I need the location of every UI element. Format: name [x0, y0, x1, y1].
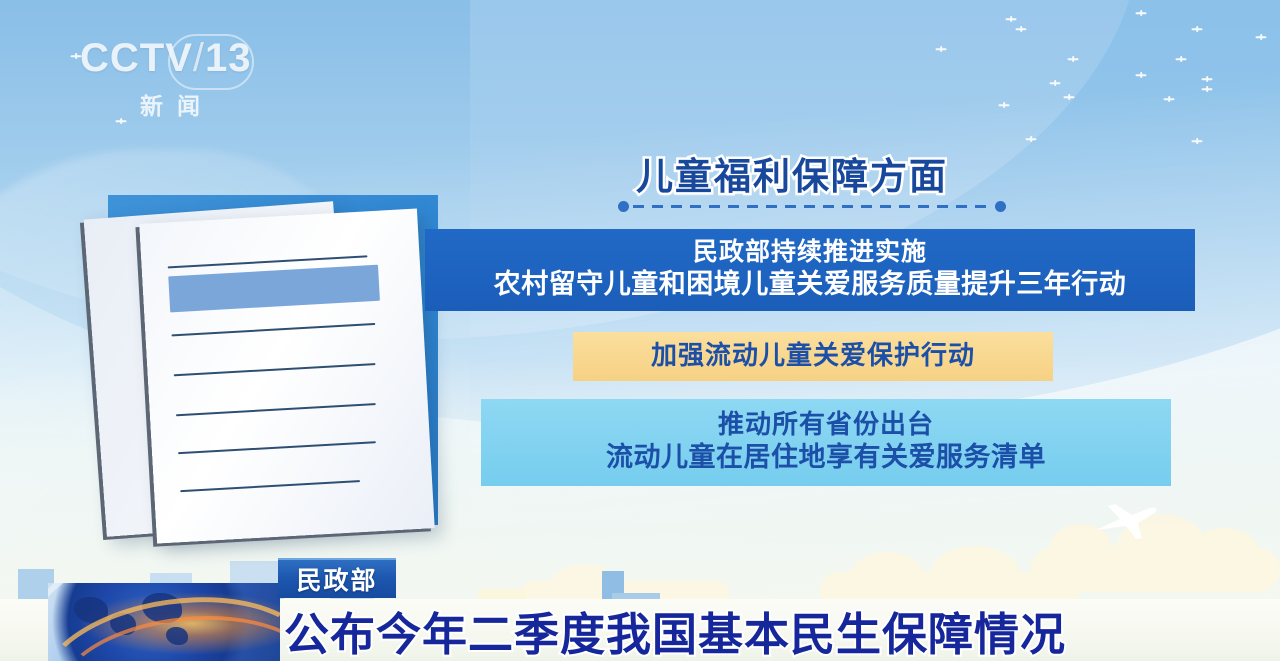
cctv13-logo: CCTV/13 新闻	[80, 38, 260, 130]
banner-line-1: 推动所有省份出台	[491, 409, 1161, 441]
divider-dashes	[633, 205, 991, 208]
organization-badge: 民政部	[278, 558, 396, 598]
info-banner-secondary: 加强流动儿童关爱保护行动	[573, 332, 1053, 381]
banner-line-1: 民政部持续推进实施	[435, 238, 1185, 268]
divider-dot-left	[618, 201, 629, 212]
banner-line-2: 流动儿童在居住地享有关爱服务清单	[491, 441, 1161, 474]
logo-subtitle: 新闻	[80, 87, 260, 121]
logo-ring	[168, 34, 254, 90]
section-title: 儿童福利保障方面	[636, 146, 948, 200]
news-globe-graphic	[48, 583, 280, 661]
document-highlight-band	[168, 265, 380, 313]
info-banner-primary: 民政部持续推进实施 农村留守儿童和困境儿童关爱服务质量提升三年行动	[425, 229, 1195, 311]
document-page-front	[139, 208, 434, 543]
title-divider	[618, 200, 1006, 212]
organization-name: 民政部	[296, 561, 377, 597]
broadcast-frame: CCTV/13 新闻 儿童福利保障方面 民政部持续推进实施 农村留守儿童和困境儿…	[0, 0, 1280, 661]
divider-dot-right	[995, 201, 1006, 212]
info-banner-tertiary: 推动所有省份出台 流动儿童在居住地享有关爱服务清单	[481, 399, 1171, 486]
banner-line-1: 加强流动儿童关爱保护行动	[583, 340, 1043, 371]
news-headline: 公布今年二季度我国基本民生保障情况	[284, 598, 1066, 661]
banner-line-2: 农村留守儿童和困境儿童关爱服务质量提升三年行动	[435, 268, 1185, 300]
